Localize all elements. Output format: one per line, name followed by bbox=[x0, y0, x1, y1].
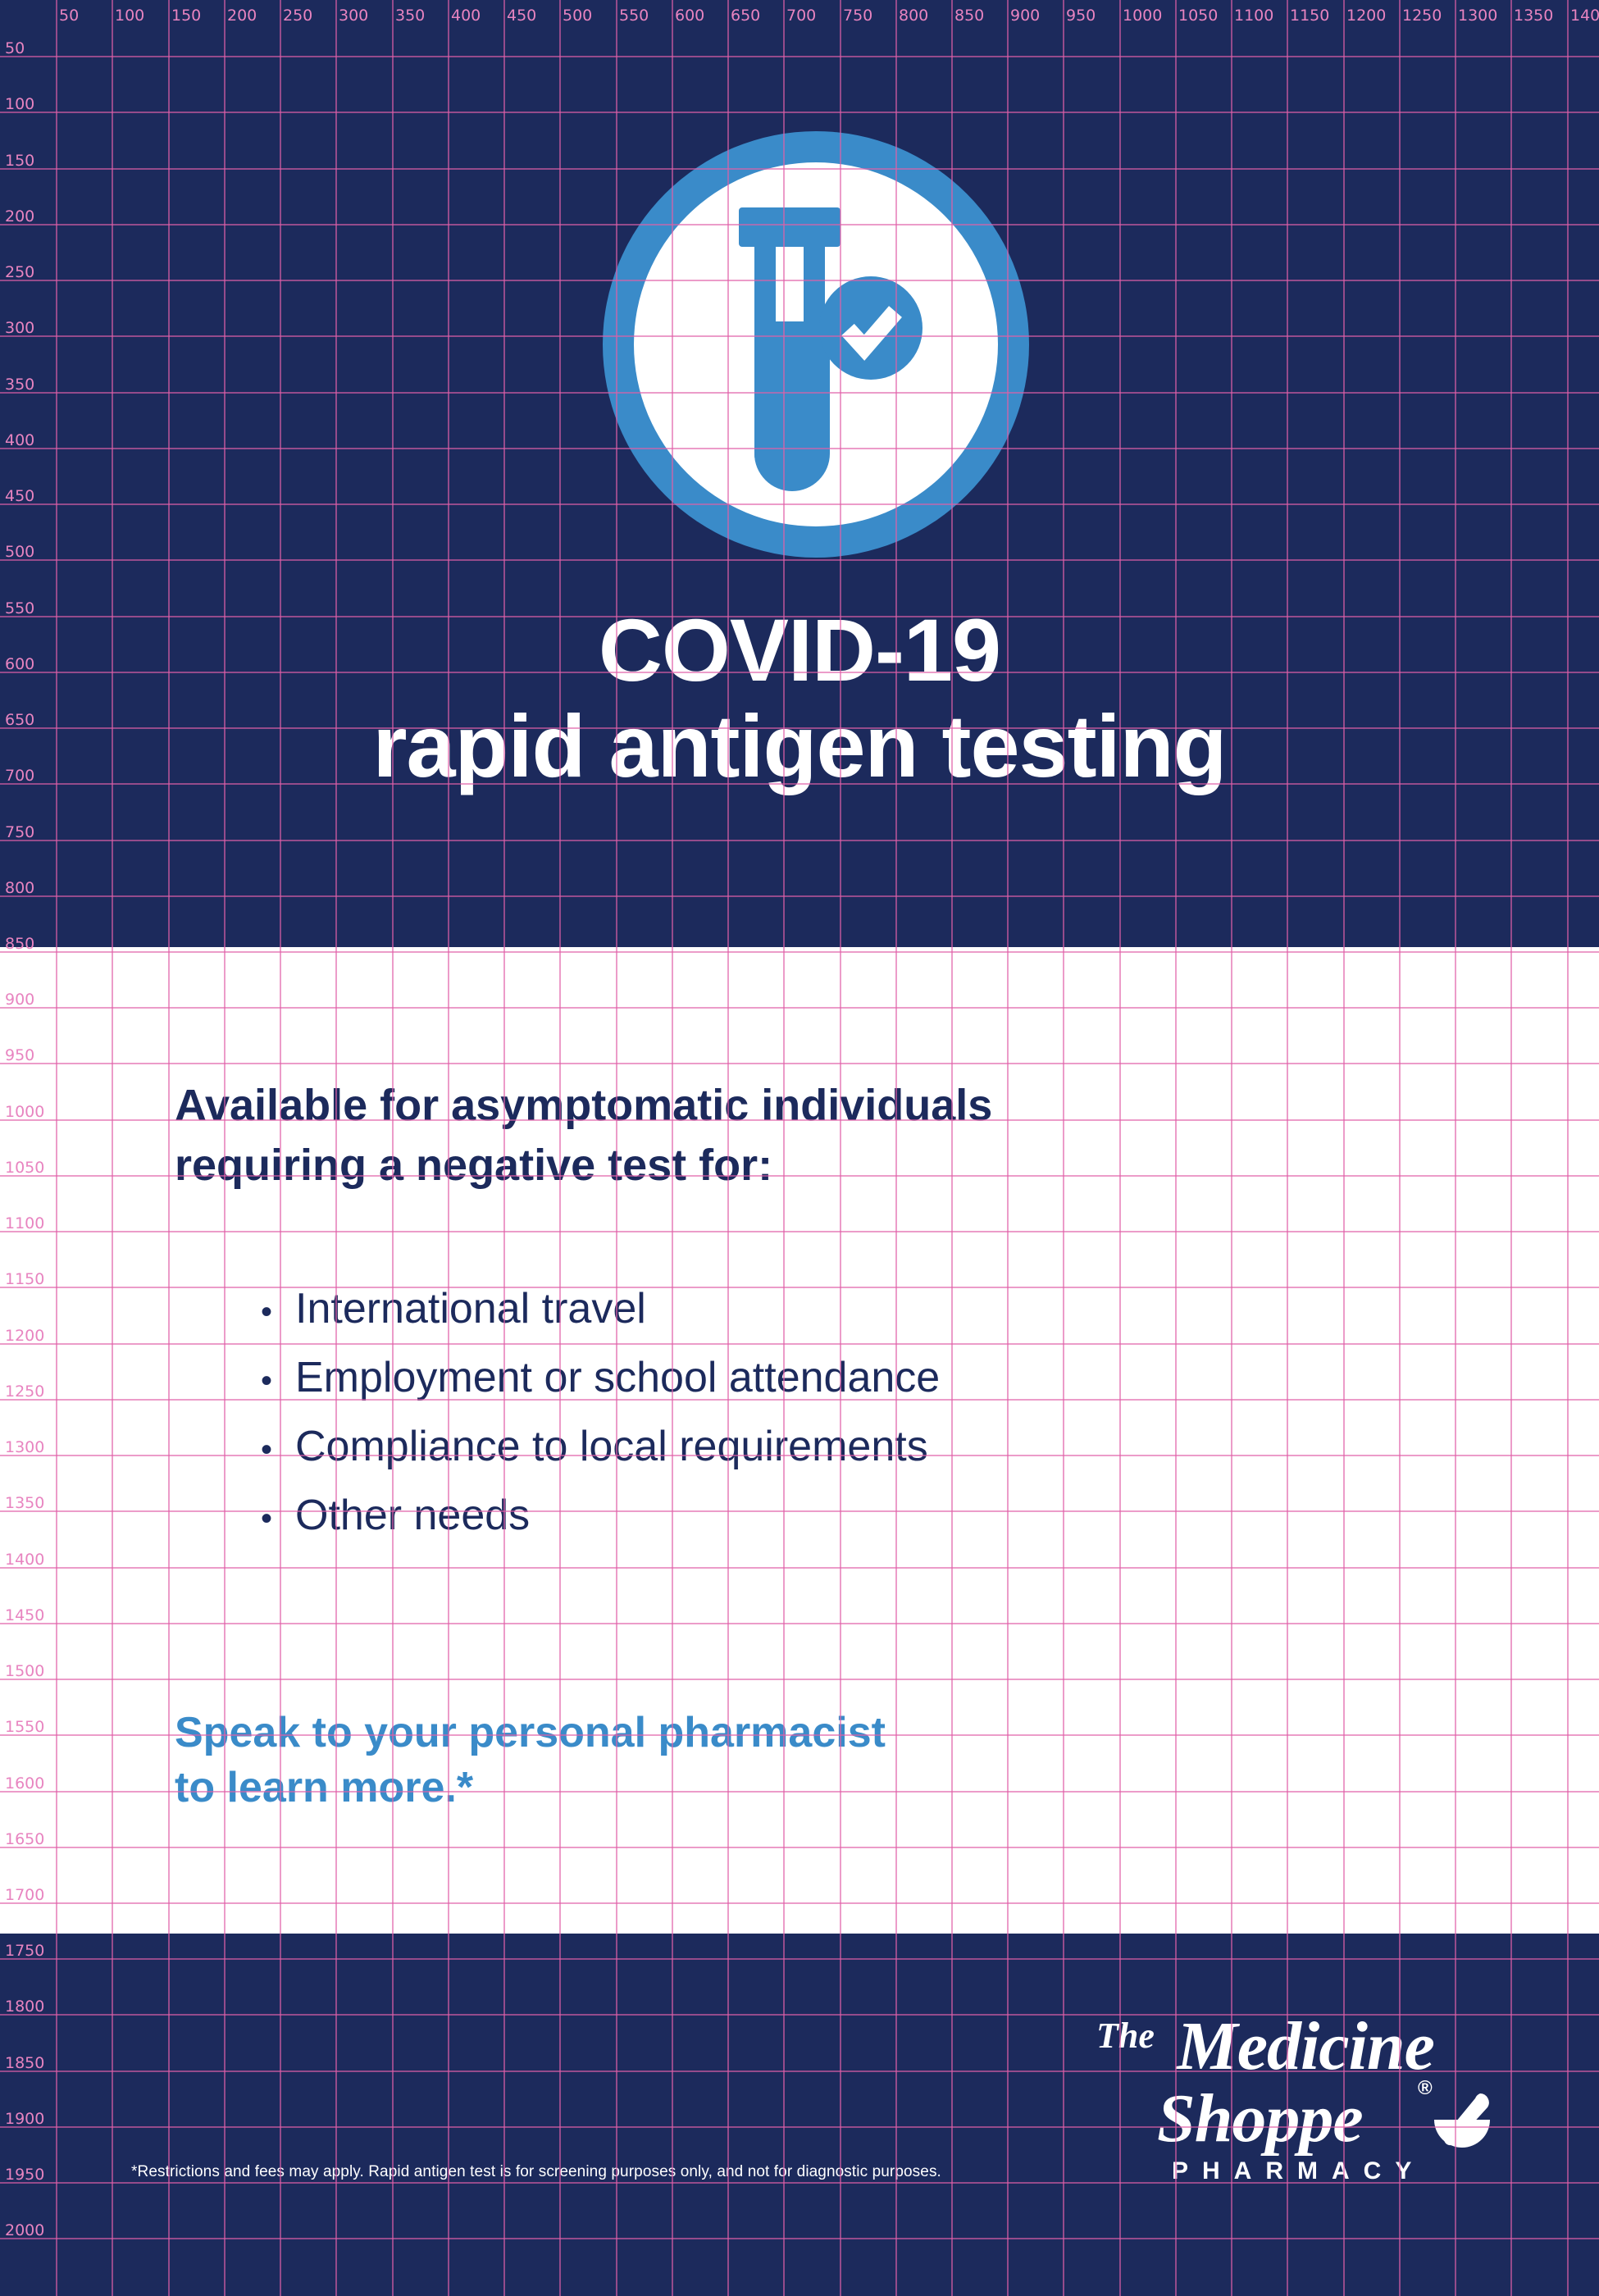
disclaimer-text: *Restrictions and fees may apply. Rapid … bbox=[131, 2163, 1050, 2181]
page-title: COVID-19 rapid antigen testing bbox=[0, 603, 1599, 794]
headline-line-2: rapid antigen testing bbox=[0, 699, 1599, 795]
eligibility-list: • International travel • Employment or s… bbox=[261, 1286, 1450, 1562]
logo-word-medicine: Medicine bbox=[1177, 2007, 1434, 2086]
logo-word-the: The bbox=[1096, 2015, 1155, 2057]
bullet-dot-icon: • bbox=[261, 1433, 295, 1466]
list-item: • Other needs bbox=[261, 1492, 1450, 1538]
lead-line-1: Available for asymptomatic individuals bbox=[175, 1076, 1487, 1136]
list-item: • International travel bbox=[261, 1286, 1450, 1332]
emblem-glyphs bbox=[603, 131, 1029, 558]
medicine-shoppe-logo: The Medicine Shoppe ® PHARMACY bbox=[1086, 2013, 1513, 2198]
test-tube-check-circle-icon bbox=[603, 131, 1029, 558]
list-item-label: Compliance to local requirements bbox=[295, 1424, 1450, 1469]
cta-line-1: Speak to your personal pharmacist bbox=[175, 1706, 1241, 1761]
list-item-label: International travel bbox=[295, 1286, 1450, 1332]
call-to-action: Speak to your personal pharmacist to lea… bbox=[175, 1706, 1241, 1815]
list-item: • Compliance to local requirements bbox=[261, 1424, 1450, 1469]
list-item: • Employment or school attendance bbox=[261, 1355, 1450, 1401]
bullet-dot-icon: • bbox=[261, 1296, 295, 1328]
headline-line-1: COVID-19 bbox=[0, 603, 1599, 699]
poster-canvas: COVID-19 rapid antigen testing Available… bbox=[0, 0, 1599, 2296]
body-section: Available for asymptomatic individuals r… bbox=[0, 947, 1599, 1934]
mortar-and-pestle-icon bbox=[1429, 2092, 1495, 2156]
cta-line-2: to learn more.* bbox=[175, 1761, 1241, 1815]
bullet-dot-icon: • bbox=[261, 1502, 295, 1535]
list-item-label: Employment or school attendance bbox=[295, 1355, 1450, 1401]
logo-word-shoppe: Shoppe bbox=[1157, 2079, 1363, 2158]
lead-paragraph: Available for asymptomatic individuals r… bbox=[175, 1076, 1487, 1196]
bullet-dot-icon: • bbox=[261, 1364, 295, 1397]
lead-line-2: requiring a negative test for: bbox=[175, 1136, 1487, 1196]
logo-word-pharmacy: PHARMACY bbox=[1172, 2157, 1425, 2185]
list-item-label: Other needs bbox=[295, 1492, 1450, 1538]
